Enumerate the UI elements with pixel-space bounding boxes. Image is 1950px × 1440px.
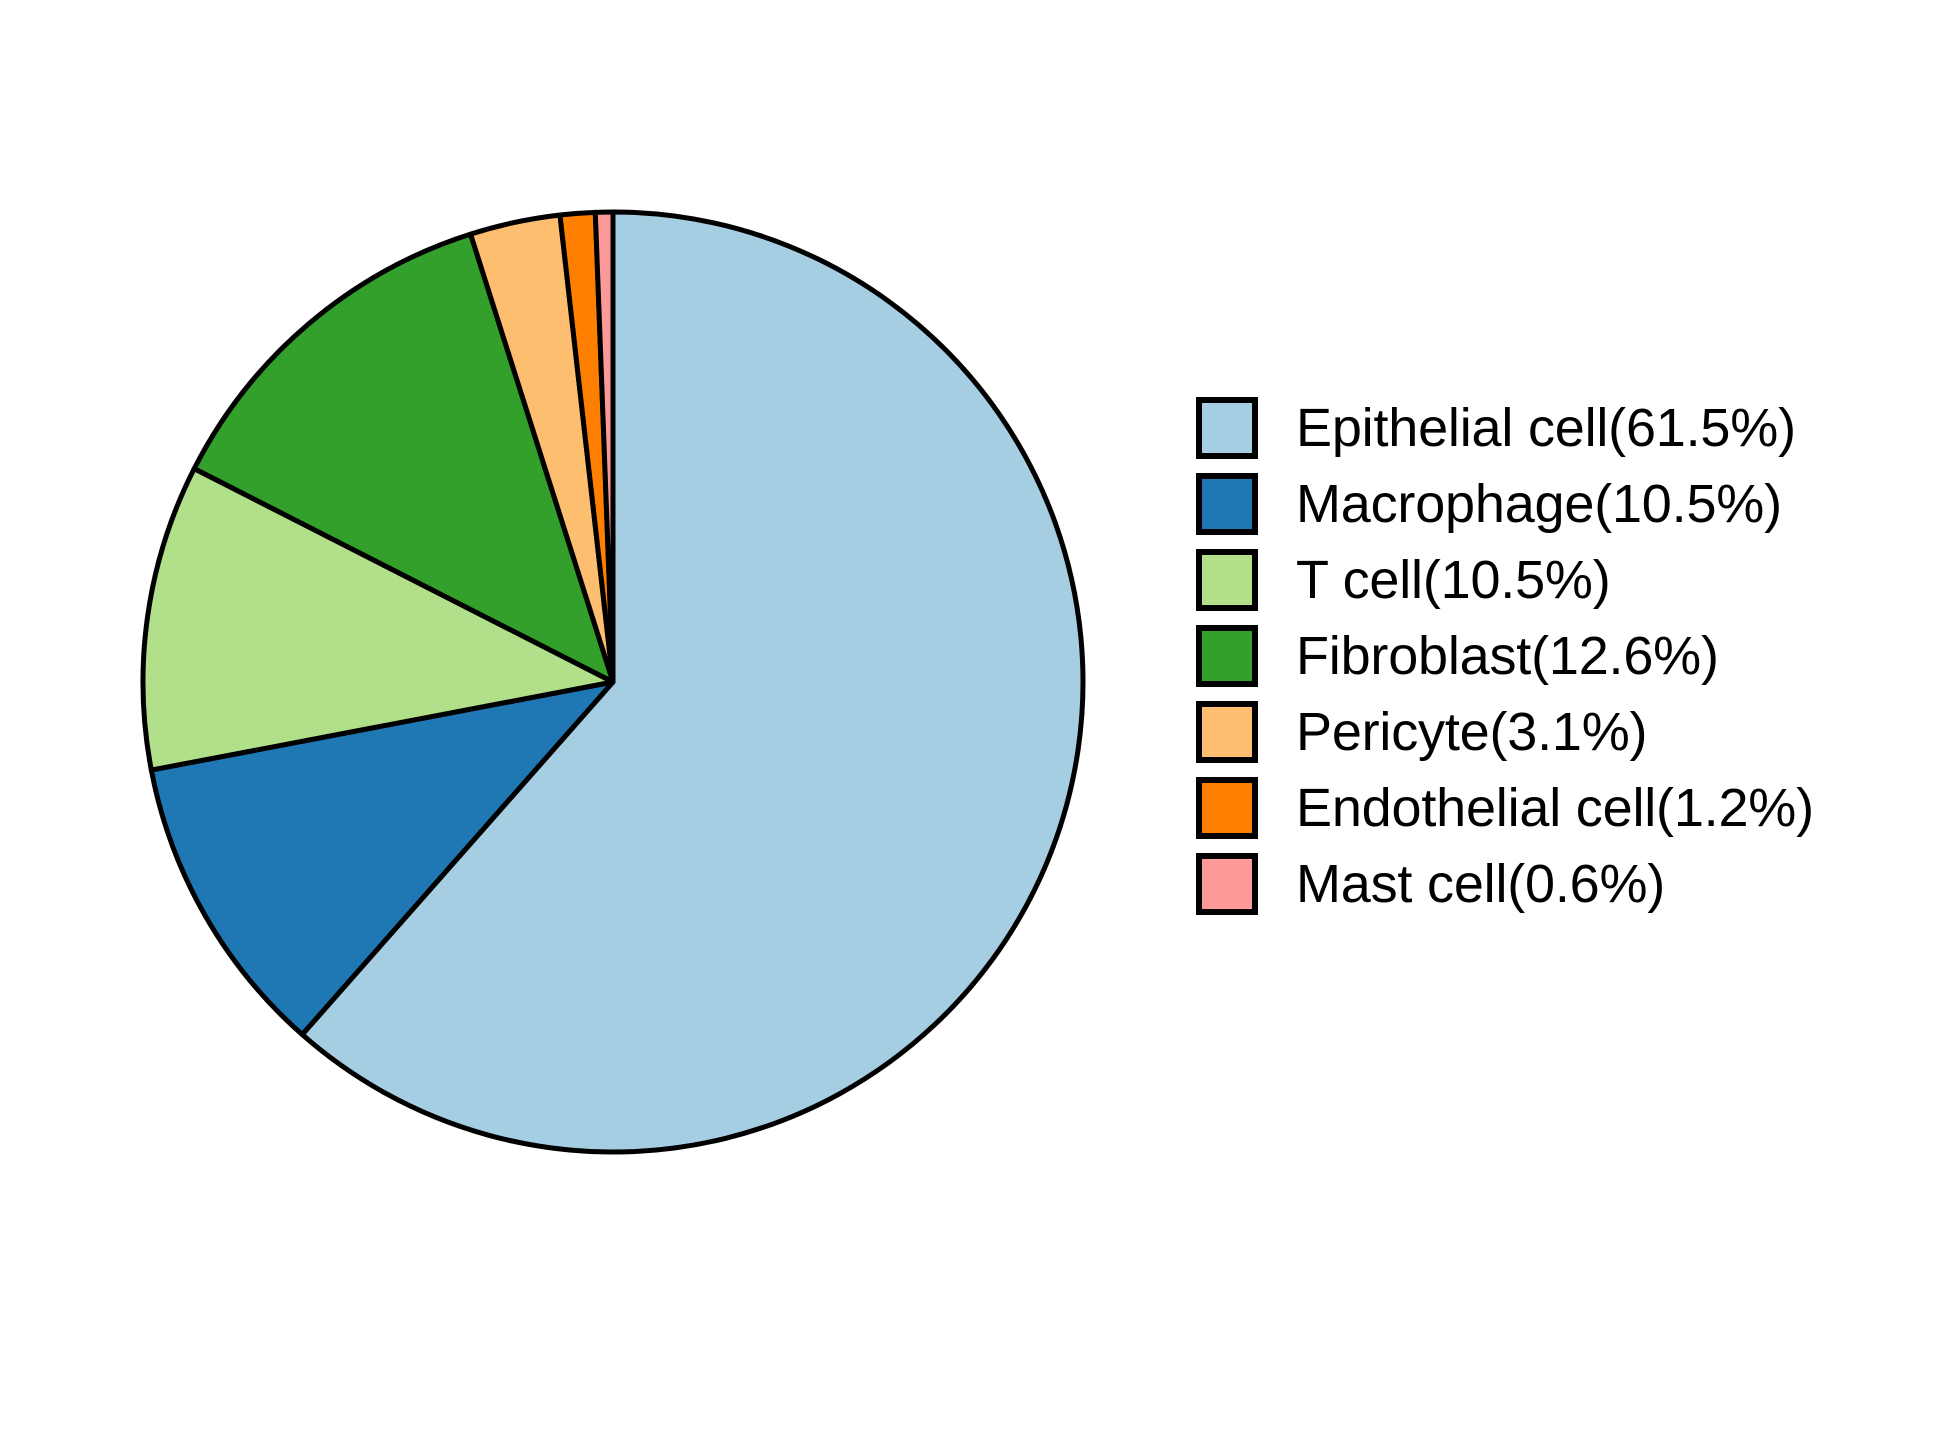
chart-legend: Epithelial cell(61.5%)Macrophage(10.5%)T… bbox=[1196, 390, 1814, 922]
pie-slice-group bbox=[143, 212, 1083, 1152]
legend-label-t-cell: T cell(10.5%) bbox=[1296, 552, 1611, 608]
legend-item-endothelial-cell[interactable]: Endothelial cell(1.2%) bbox=[1196, 770, 1814, 846]
legend-swatch-macrophage bbox=[1196, 473, 1258, 535]
legend-label-fibroblast: Fibroblast(12.6%) bbox=[1296, 628, 1719, 684]
legend-swatch-epithelial-cell bbox=[1196, 397, 1258, 459]
pie-plot-area bbox=[0, 0, 1230, 1440]
legend-item-pericyte[interactable]: Pericyte(3.1%) bbox=[1196, 694, 1647, 770]
legend-swatch-pericyte bbox=[1196, 701, 1258, 763]
legend-swatch-fibroblast bbox=[1196, 625, 1258, 687]
legend-label-endothelial-cell: Endothelial cell(1.2%) bbox=[1296, 780, 1814, 836]
legend-label-pericyte: Pericyte(3.1%) bbox=[1296, 704, 1647, 760]
legend-label-mast-cell: Mast cell(0.6%) bbox=[1296, 856, 1665, 912]
legend-swatch-t-cell bbox=[1196, 549, 1258, 611]
legend-label-macrophage: Macrophage(10.5%) bbox=[1296, 476, 1782, 532]
legend-item-t-cell[interactable]: T cell(10.5%) bbox=[1196, 542, 1611, 618]
pie-chart-figure: Epithelial cell(61.5%)Macrophage(10.5%)T… bbox=[0, 0, 1950, 1440]
legend-swatch-endothelial-cell bbox=[1196, 777, 1258, 839]
legend-item-macrophage[interactable]: Macrophage(10.5%) bbox=[1196, 466, 1782, 542]
legend-item-epithelial-cell[interactable]: Epithelial cell(61.5%) bbox=[1196, 390, 1796, 466]
legend-item-fibroblast[interactable]: Fibroblast(12.6%) bbox=[1196, 618, 1719, 694]
pie-svg bbox=[0, 0, 1230, 1440]
legend-swatch-mast-cell bbox=[1196, 853, 1258, 915]
legend-item-mast-cell[interactable]: Mast cell(0.6%) bbox=[1196, 846, 1665, 922]
legend-label-epithelial-cell: Epithelial cell(61.5%) bbox=[1296, 400, 1796, 456]
